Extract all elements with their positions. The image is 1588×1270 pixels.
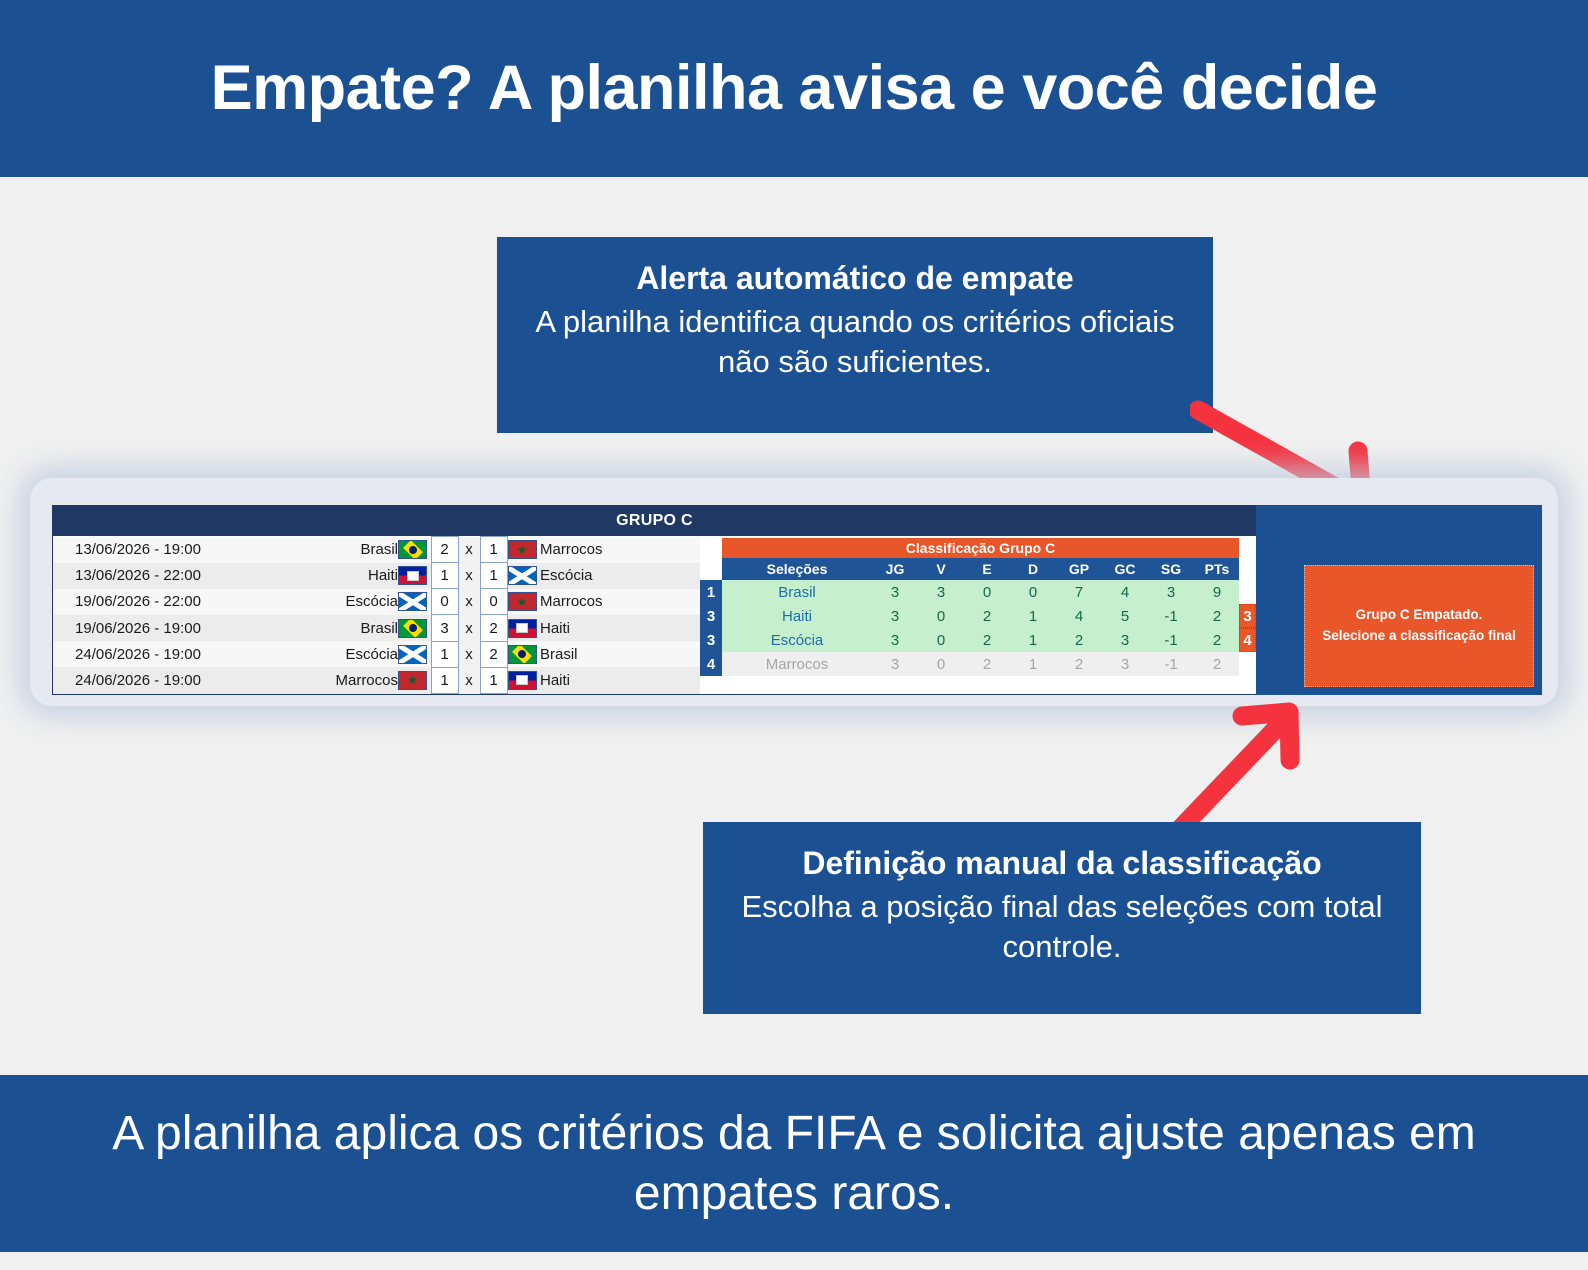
match-away-score[interactable]: 1 bbox=[480, 667, 507, 693]
stat-pts: 9 bbox=[1194, 580, 1240, 604]
col-gc: GC bbox=[1102, 558, 1148, 580]
flag-cell bbox=[398, 589, 431, 615]
match-away-team: Haiti bbox=[540, 615, 700, 641]
selector-spacer bbox=[1239, 538, 1256, 604]
match-date: 19/06/2026 - 19:00 bbox=[53, 615, 223, 641]
match-away-team: Haiti bbox=[540, 667, 700, 693]
stat-pts: 2 bbox=[1194, 628, 1240, 652]
stat-sg: -1 bbox=[1148, 652, 1194, 676]
col-v: V bbox=[918, 558, 964, 580]
match-home-team: Marrocos bbox=[223, 667, 398, 693]
stat-d: 1 bbox=[1010, 628, 1056, 652]
table-row[interactable]: 3 Escócia 3 0 2 1 2 3 -1 2 bbox=[700, 628, 1240, 652]
match-date: 24/06/2026 - 19:00 bbox=[53, 641, 223, 667]
position-badge: 3 bbox=[700, 604, 722, 628]
table-row[interactable]: 13/06/2026 - 22:00 Haiti 1 x 1 Escócia bbox=[53, 563, 700, 589]
position-badge: 1 bbox=[700, 580, 722, 604]
team-name: Escócia bbox=[722, 628, 872, 652]
stat-e: 2 bbox=[964, 652, 1010, 676]
stat-pts: 2 bbox=[1194, 604, 1240, 628]
stat-e: 2 bbox=[964, 604, 1010, 628]
flag-marrocos-icon bbox=[508, 592, 537, 611]
stat-sg: -1 bbox=[1148, 628, 1194, 652]
flag-cell bbox=[507, 563, 540, 589]
table-row[interactable]: 24/06/2026 - 19:00 Marrocos 1 x 1 Haiti bbox=[53, 667, 700, 693]
table-row[interactable]: 4 Marrocos 3 0 2 1 2 3 -1 2 bbox=[700, 652, 1240, 676]
score-separator: x bbox=[458, 615, 480, 641]
flag-cell bbox=[398, 667, 431, 693]
callout-alerta-title: Alerta automático de empate bbox=[523, 259, 1187, 298]
flag-marrocos-icon bbox=[398, 671, 427, 690]
group-header: GRUPO C bbox=[53, 506, 1256, 536]
stat-gc: 3 bbox=[1102, 652, 1148, 676]
stat-gp: 2 bbox=[1056, 652, 1102, 676]
status-badge: Grupo C Empatado. Selecione a classifica… bbox=[1304, 565, 1534, 687]
stat-v: 0 bbox=[918, 628, 964, 652]
col-position bbox=[700, 558, 722, 580]
table-row[interactable]: 19/06/2026 - 22:00 Escócia 0 x 0 Marroco… bbox=[53, 589, 700, 615]
position-badge: 4 bbox=[700, 652, 722, 676]
spreadsheet-body: 13/06/2026 - 19:00 Brasil 2 x 1 Marrocos… bbox=[53, 536, 1256, 694]
match-home-score[interactable]: 1 bbox=[431, 563, 458, 589]
classification-body: 1 Brasil 3 3 0 0 7 4 3 9 bbox=[700, 580, 1240, 676]
manual-position-input-1[interactable]: 3 bbox=[1239, 604, 1256, 628]
match-away-score[interactable]: 2 bbox=[480, 641, 507, 667]
flag-escocia-icon bbox=[508, 566, 537, 585]
classification-panel: Classificação Grupo C Seleções JG V E D … bbox=[700, 536, 1239, 694]
stat-e: 2 bbox=[964, 628, 1010, 652]
flag-haiti-icon bbox=[508, 619, 537, 638]
flag-escocia-icon bbox=[398, 645, 427, 664]
team-name: Brasil bbox=[722, 580, 872, 604]
matches-table: 13/06/2026 - 19:00 Brasil 2 x 1 Marrocos… bbox=[53, 536, 700, 694]
match-home-team: Escócia bbox=[223, 589, 398, 615]
match-home-team: Brasil bbox=[223, 615, 398, 641]
col-selecoes: Seleções bbox=[722, 558, 872, 580]
callout-manual-body: Escolha a posição final das seleções com… bbox=[729, 887, 1395, 966]
table-row[interactable]: 24/06/2026 - 19:00 Escócia 1 x 2 Brasil bbox=[53, 641, 700, 667]
col-sg: SG bbox=[1148, 558, 1194, 580]
match-home-team: Escócia bbox=[223, 641, 398, 667]
flag-cell bbox=[507, 537, 540, 563]
match-home-team: Brasil bbox=[223, 537, 398, 563]
footer-text: A planilha aplica os critérios da FIFA e… bbox=[40, 1104, 1548, 1224]
alert-line-2: Selecione a classificação final bbox=[1322, 626, 1516, 647]
stat-v: 0 bbox=[918, 604, 964, 628]
score-separator: x bbox=[458, 563, 480, 589]
flag-brasil-icon bbox=[398, 540, 427, 559]
top-banner: Empate? A planilha avisa e você decide bbox=[0, 0, 1588, 177]
matches-table-body: 13/06/2026 - 19:00 Brasil 2 x 1 Marrocos… bbox=[53, 537, 700, 694]
classification-title: Classificação Grupo C bbox=[722, 538, 1239, 558]
stat-jg: 3 bbox=[872, 604, 918, 628]
stat-v: 3 bbox=[918, 580, 964, 604]
table-row[interactable]: 1 Brasil 3 3 0 0 7 4 3 9 bbox=[700, 580, 1240, 604]
callout-alerta-automatico: Alerta automático de empate A planilha i… bbox=[497, 237, 1213, 433]
callout-manual-title: Definição manual da classificação bbox=[729, 844, 1395, 883]
match-home-score[interactable]: 3 bbox=[431, 615, 458, 641]
match-away-score[interactable]: 0 bbox=[480, 589, 507, 615]
score-separator: x bbox=[458, 537, 480, 563]
score-separator: x bbox=[458, 589, 480, 615]
col-e: E bbox=[964, 558, 1010, 580]
callout-alerta-body: A planilha identifica quando os critério… bbox=[523, 302, 1187, 381]
stat-pts: 2 bbox=[1194, 652, 1240, 676]
infographic-page: Empate? A planilha avisa e você decide A… bbox=[0, 0, 1588, 1270]
stat-d: 0 bbox=[1010, 580, 1056, 604]
match-date: 13/06/2026 - 19:00 bbox=[53, 537, 223, 563]
stat-jg: 3 bbox=[872, 628, 918, 652]
stat-gp: 7 bbox=[1056, 580, 1102, 604]
match-date: 19/06/2026 - 22:00 bbox=[53, 589, 223, 615]
match-away-team: Escócia bbox=[540, 563, 700, 589]
match-date: 24/06/2026 - 19:00 bbox=[53, 667, 223, 693]
col-pts: PTs bbox=[1194, 558, 1240, 580]
classification-header-row: Seleções JG V E D GP GC SG PTs bbox=[700, 558, 1240, 580]
page-title: Empate? A planilha avisa e você decide bbox=[211, 57, 1378, 120]
team-name: Haiti bbox=[722, 604, 872, 628]
match-away-team: Marrocos bbox=[540, 537, 700, 563]
stat-e: 0 bbox=[964, 580, 1010, 604]
flag-cell bbox=[507, 667, 540, 693]
alert-panel: Grupo C Empatado. Selecione a classifica… bbox=[1256, 505, 1542, 695]
stat-sg: -1 bbox=[1148, 604, 1194, 628]
col-jg: JG bbox=[872, 558, 918, 580]
callout-definicao-manual: Definição manual da classificação Escolh… bbox=[703, 822, 1421, 1014]
manual-position-input-2[interactable]: 4 bbox=[1239, 628, 1256, 652]
match-home-score[interactable]: 1 bbox=[431, 667, 458, 693]
stat-gp: 2 bbox=[1056, 628, 1102, 652]
stat-gp: 4 bbox=[1056, 604, 1102, 628]
flag-cell bbox=[398, 537, 431, 563]
score-separator: x bbox=[458, 667, 480, 693]
flag-cell bbox=[398, 615, 431, 641]
stat-v: 0 bbox=[918, 652, 964, 676]
bottom-banner: A planilha aplica os critérios da FIFA e… bbox=[0, 1075, 1588, 1252]
alert-line-1: Grupo C Empatado. bbox=[1356, 605, 1483, 626]
table-row[interactable]: 13/06/2026 - 19:00 Brasil 2 x 1 Marrocos bbox=[53, 537, 700, 563]
classification-table: Seleções JG V E D GP GC SG PTs bbox=[700, 558, 1240, 676]
stat-jg: 3 bbox=[872, 652, 918, 676]
flag-cell bbox=[507, 589, 540, 615]
flag-cell bbox=[507, 641, 540, 667]
manual-position-selectors: 3 4 bbox=[1239, 536, 1256, 694]
flag-cell bbox=[398, 563, 431, 589]
match-away-team: Brasil bbox=[540, 641, 700, 667]
match-home-team: Haiti bbox=[223, 563, 398, 589]
match-home-score[interactable]: 1 bbox=[431, 641, 458, 667]
match-away-score[interactable]: 2 bbox=[480, 615, 507, 641]
flag-brasil-icon bbox=[508, 645, 537, 664]
match-date: 13/06/2026 - 22:00 bbox=[53, 563, 223, 589]
flag-brasil-icon bbox=[398, 619, 427, 638]
match-away-score[interactable]: 1 bbox=[480, 563, 507, 589]
flag-cell bbox=[507, 615, 540, 641]
flag-cell bbox=[398, 641, 431, 667]
stat-gc: 4 bbox=[1102, 580, 1148, 604]
col-gp: GP bbox=[1056, 558, 1102, 580]
stat-d: 1 bbox=[1010, 652, 1056, 676]
classification-head: Seleções JG V E D GP GC SG PTs bbox=[700, 558, 1240, 580]
stat-sg: 3 bbox=[1148, 580, 1194, 604]
stat-jg: 3 bbox=[872, 580, 918, 604]
spreadsheet-grid: GRUPO C 13/06/2026 - 19:00 Brasil 2 x 1 bbox=[52, 505, 1256, 695]
position-badge: 3 bbox=[700, 628, 722, 652]
flag-escocia-icon bbox=[398, 592, 427, 611]
match-home-score[interactable]: 0 bbox=[431, 589, 458, 615]
stat-gc: 5 bbox=[1102, 604, 1148, 628]
match-home-score[interactable]: 2 bbox=[431, 537, 458, 563]
flag-haiti-icon bbox=[398, 566, 427, 585]
match-away-team: Marrocos bbox=[540, 589, 700, 615]
spreadsheet: GRUPO C 13/06/2026 - 19:00 Brasil 2 x 1 bbox=[52, 505, 1542, 695]
match-away-score[interactable]: 1 bbox=[480, 537, 507, 563]
score-separator: x bbox=[458, 641, 480, 667]
stat-gc: 3 bbox=[1102, 628, 1148, 652]
col-d: D bbox=[1010, 558, 1056, 580]
stat-d: 1 bbox=[1010, 604, 1056, 628]
table-row[interactable]: 19/06/2026 - 19:00 Brasil 3 x 2 Haiti bbox=[53, 615, 700, 641]
table-row[interactable]: 3 Haiti 3 0 2 1 4 5 -1 2 bbox=[700, 604, 1240, 628]
flag-haiti-icon bbox=[508, 671, 537, 690]
team-name: Marrocos bbox=[722, 652, 872, 676]
arrow-up-right-icon bbox=[1165, 700, 1325, 840]
flag-marrocos-icon bbox=[508, 540, 537, 559]
